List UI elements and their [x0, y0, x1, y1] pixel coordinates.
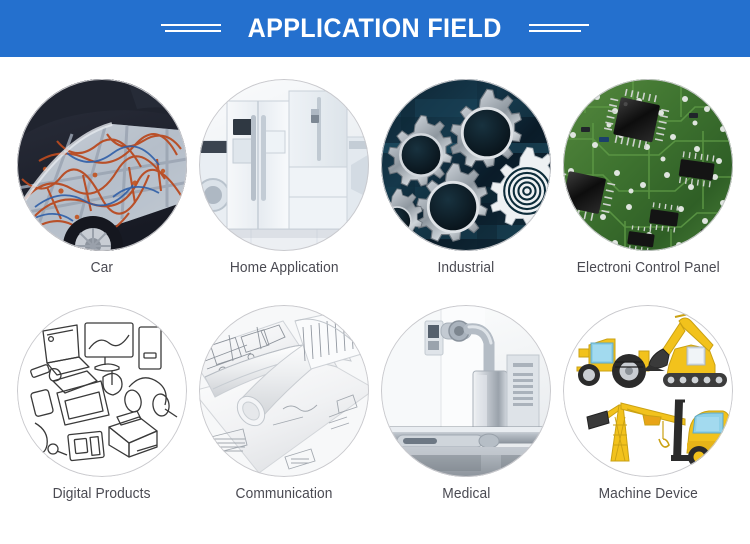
application-card-medical[interactable]: Medical [378, 305, 554, 517]
pcb-circuit-board-photo [563, 79, 733, 251]
grid-row: Digital Products [0, 289, 750, 517]
double-line-left-icon [161, 24, 221, 33]
card-label: Digital Products [53, 486, 151, 502]
medical-xray-machine-photo [381, 305, 551, 477]
page-header-banner: APPLICATION FIELD [0, 0, 750, 57]
application-card-machine-device[interactable]: Machine Device [560, 305, 736, 517]
blueprint-rolls-photo [199, 305, 369, 477]
car-wiring-harness-photo [17, 79, 187, 251]
application-card-car[interactable]: Car [14, 79, 190, 289]
page-title: APPLICATION FIELD [248, 15, 502, 42]
application-card-industrial[interactable]: Industrial [378, 79, 554, 289]
card-label: Home Application [230, 260, 339, 276]
card-label: Medical [442, 486, 490, 502]
application-card-home-application[interactable]: Home Application [196, 79, 372, 289]
card-label: Electroni Control Panel [576, 260, 719, 276]
application-card-electronic-control-panel[interactable]: Electroni Control Panel [560, 79, 736, 289]
application-field-page: APPLICATION FIELD [0, 0, 750, 544]
card-label: Machine Device [598, 486, 697, 502]
application-card-digital-products[interactable]: Digital Products [14, 305, 190, 517]
industrial-gears-photo [381, 79, 551, 251]
card-label: Industrial [438, 260, 495, 276]
application-grid: Car [0, 57, 750, 544]
card-label: Car [91, 260, 113, 276]
digital-products-lineart [17, 305, 187, 477]
grid-row: Car [0, 57, 750, 289]
home-appliances-photo [199, 79, 369, 251]
application-card-communication[interactable]: Communication [196, 305, 372, 517]
card-label: Communication [236, 486, 333, 502]
double-line-right-icon [529, 24, 589, 33]
construction-machinery-illustration [563, 305, 733, 477]
